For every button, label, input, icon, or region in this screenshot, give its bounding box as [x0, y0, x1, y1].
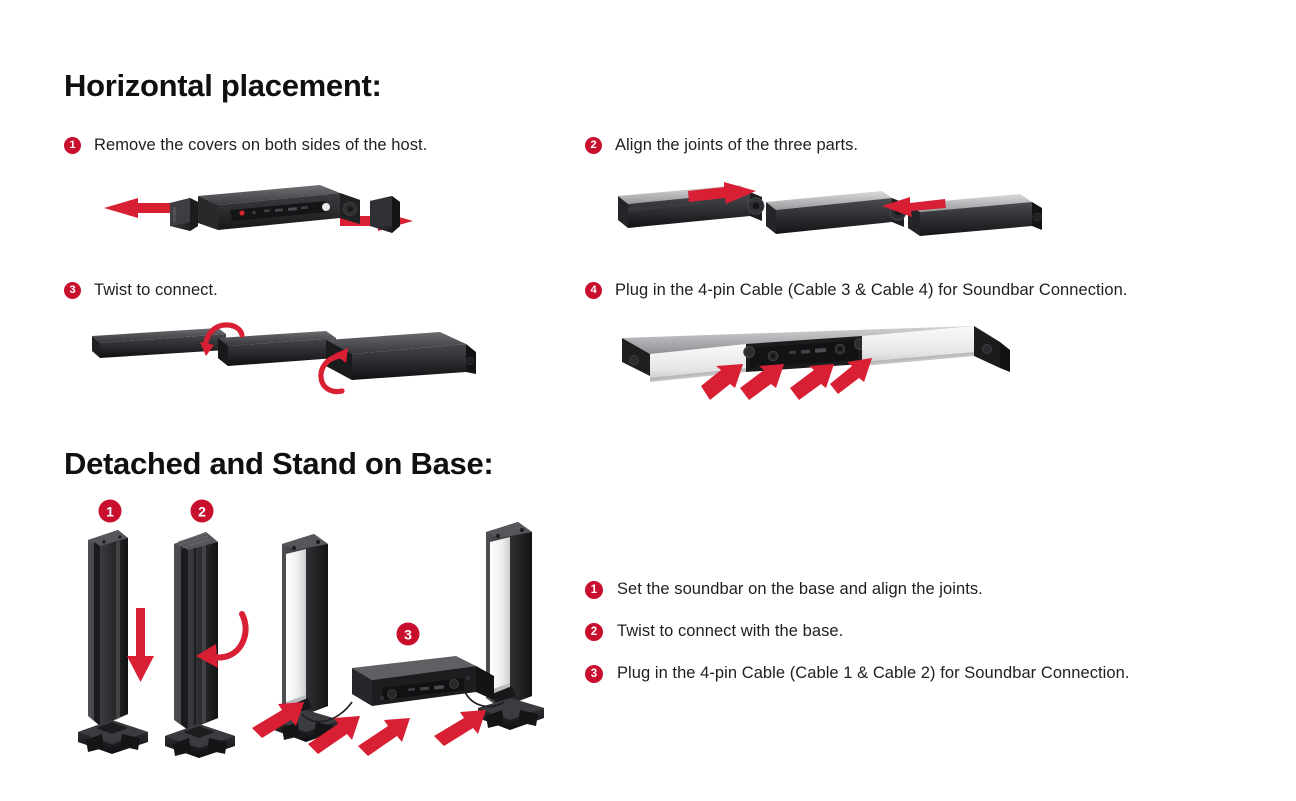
step-number-badge: 2: [585, 623, 603, 641]
figure-align-joints: [600, 172, 1050, 264]
joint-connector-1: [748, 192, 764, 221]
step-item-horizontal-4: 4 Plug in the 4-pin Cable (Cable 3 & Cab…: [585, 279, 1127, 301]
step-number-badge: 3: [64, 282, 81, 299]
step-label: Twist to connect with the base.: [617, 620, 843, 642]
arrow-cable-host-right: [358, 718, 410, 756]
step-label: Twist to connect.: [94, 279, 218, 301]
figure-remove-covers: [78, 176, 438, 260]
speaker-tower-twisting: [165, 532, 235, 758]
step-item-horizontal-1: 1 Remove the covers on both sides of the…: [64, 134, 427, 156]
step-number-badge: 2: [585, 137, 602, 154]
step-number-badge: 1: [64, 137, 81, 154]
step-item-horizontal-3: 3 Twist to connect.: [64, 279, 218, 301]
step-label: Remove the covers on both sides of the h…: [94, 134, 427, 156]
step-number-badge: 3: [585, 665, 603, 683]
led-indicator: [239, 210, 244, 215]
end-cover-left: [170, 198, 198, 231]
step-label: Plug in the 4-pin Cable (Cable 3 & Cable…: [615, 279, 1127, 301]
figure-badge-1: 1: [99, 500, 122, 523]
detached-step-list: 1 Set the soundbar on the base and align…: [585, 578, 1129, 704]
arrow-lower-onto-base: [127, 608, 154, 682]
figure-plug-4pin-cable-horizontal: [600, 316, 1036, 410]
figure-stand-on-base: 1 2: [56, 492, 576, 760]
step-label: Set the soundbar on the base and align t…: [617, 578, 983, 600]
figure-badge-2: 2: [191, 500, 214, 523]
tower-base: [78, 720, 148, 754]
arrow-cable-right-tower: [434, 710, 486, 746]
section-heading-horizontal: Horizontal placement:: [64, 68, 382, 104]
tower-base: [165, 724, 235, 758]
soundbar-assembled: [92, 328, 476, 380]
end-cover-right: [370, 196, 400, 233]
svg-text:2: 2: [198, 504, 206, 520]
step-label: Plug in the 4-pin Cable (Cable 1 & Cable…: [617, 662, 1129, 684]
instruction-page: Horizontal placement: 1 Remove the cover…: [0, 0, 1296, 801]
svg-text:3: 3: [404, 627, 412, 643]
step-number-badge: 1: [585, 581, 603, 599]
figure-badge-3: 3: [397, 623, 420, 646]
svg-text:1: 1: [106, 504, 114, 520]
tower-base: [478, 698, 544, 730]
speaker-tower-right-assembled: [478, 522, 544, 730]
section-heading-detached: Detached and Stand on Base:: [64, 446, 493, 482]
host-unit-body: [198, 185, 360, 230]
step-label: Align the joints of the three parts.: [615, 134, 858, 156]
step-item-detached-3: 3 Plug in the 4-pin Cable (Cable 1 & Cab…: [585, 662, 1129, 684]
figure-twist-to-connect: [78, 308, 498, 400]
step-item-detached-1: 1 Set the soundbar on the base and align…: [585, 578, 1129, 600]
step-number-badge: 4: [585, 282, 602, 299]
soundbar-segment-right: [908, 194, 1042, 236]
step-item-horizontal-2: 2 Align the joints of the three parts.: [585, 134, 858, 156]
host-unit-flat: [352, 656, 494, 706]
arrow-pull-left: [104, 198, 173, 218]
step-item-detached-2: 2 Twist to connect with the base.: [585, 620, 1129, 642]
arrow-connect-3: [790, 364, 834, 400]
soundbar-segment-middle: [766, 191, 892, 234]
